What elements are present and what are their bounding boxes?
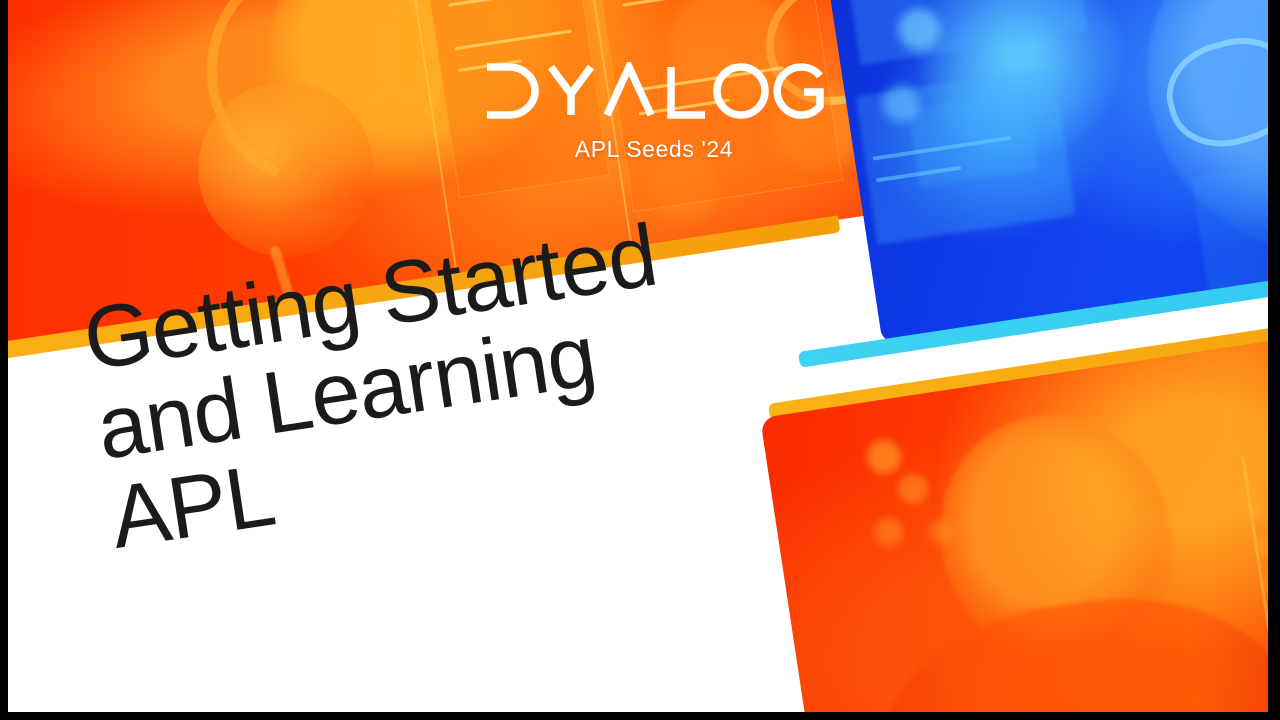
dyalog-wordmark bbox=[464, 62, 844, 122]
bokeh-dot bbox=[865, 438, 904, 477]
letterbox-bar-right bbox=[1268, 0, 1280, 720]
bokeh-dot bbox=[873, 516, 905, 548]
letterbox-bar-left bbox=[0, 0, 8, 720]
event-name-label: APL Seeds '24 bbox=[464, 136, 844, 163]
slide-canvas: APL Seeds '24 Getting Started and Learni… bbox=[0, 0, 1280, 720]
slide-stage: APL Seeds '24 Getting Started and Learni… bbox=[8, 0, 1268, 712]
bokeh-dot bbox=[896, 472, 930, 506]
dyalog-logo: APL Seeds '24 bbox=[464, 62, 844, 192]
letterbox-bar-bottom bbox=[0, 712, 1280, 720]
photo-monitor bbox=[843, 0, 1088, 65]
